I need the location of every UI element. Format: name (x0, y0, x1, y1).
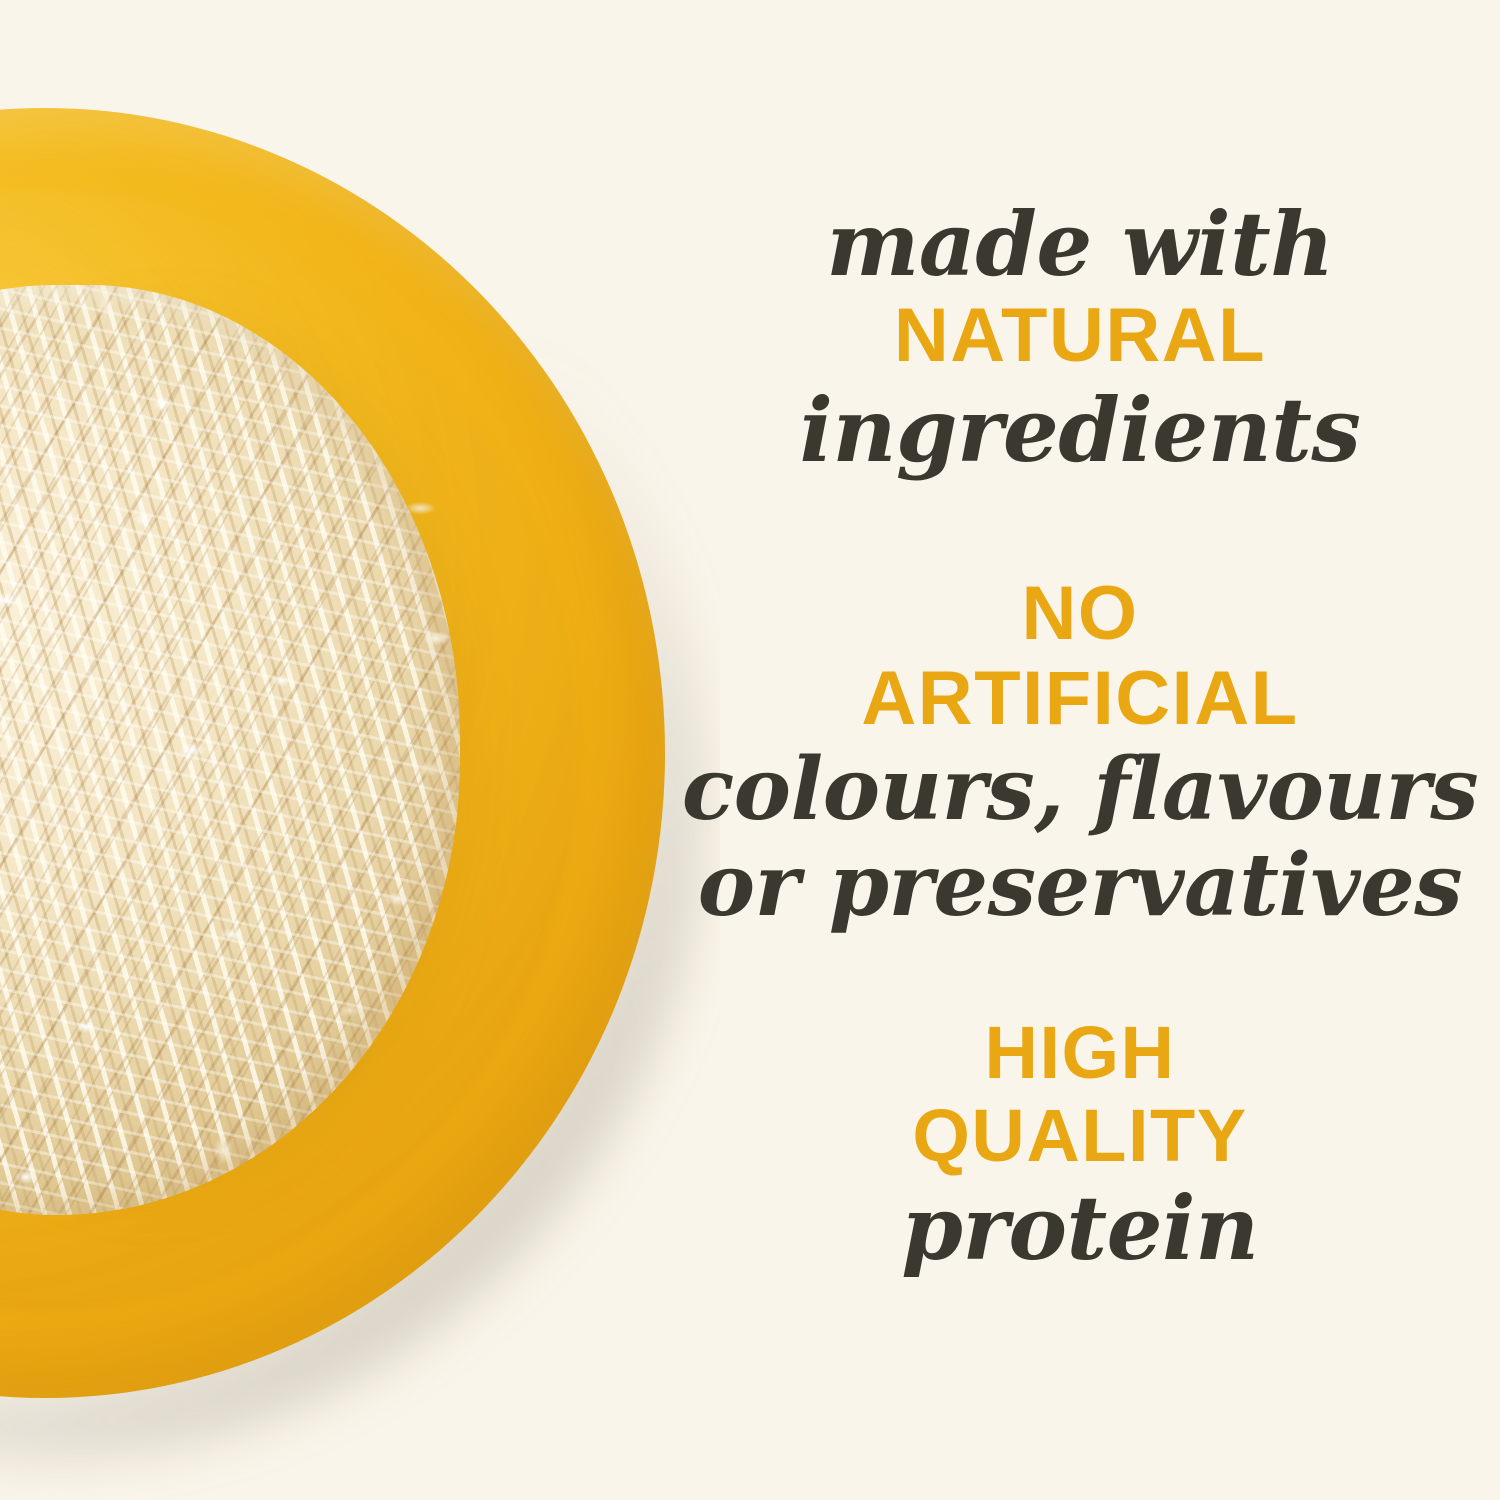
claim-line-or-preservatives: or preservatives (660, 838, 1500, 934)
rice-grains-layer (0, 285, 460, 1215)
claim-line-made-with: made with (660, 196, 1500, 292)
claim-line-artificial: ARTIFICIAL (660, 656, 1500, 742)
claim-natural-ingredients: made with NATURAL ingredients (660, 196, 1500, 480)
claim-line-colours-flavours: colours, flavours (660, 742, 1500, 838)
claim-line-high: HIGH (660, 1012, 1500, 1094)
product-photo (0, 0, 720, 1500)
claims-column: made with NATURAL ingredients NO ARTIFIC… (660, 0, 1500, 1500)
claim-line-natural: NATURAL (660, 292, 1500, 380)
claim-high-quality-protein: HIGH QUALITY protein (660, 1012, 1500, 1278)
claim-line-quality: QUALITY (660, 1094, 1500, 1178)
claim-line-protein: protein (660, 1178, 1500, 1278)
claim-line-no: NO (660, 572, 1500, 656)
shredded-chicken-and-rice (0, 285, 460, 1215)
product-benefits-panel: made with NATURAL ingredients NO ARTIFIC… (0, 0, 1500, 1500)
claim-line-ingredients: ingredients (660, 380, 1500, 480)
claim-no-artificial: NO ARTIFICIAL colours, flavours or prese… (660, 572, 1500, 934)
